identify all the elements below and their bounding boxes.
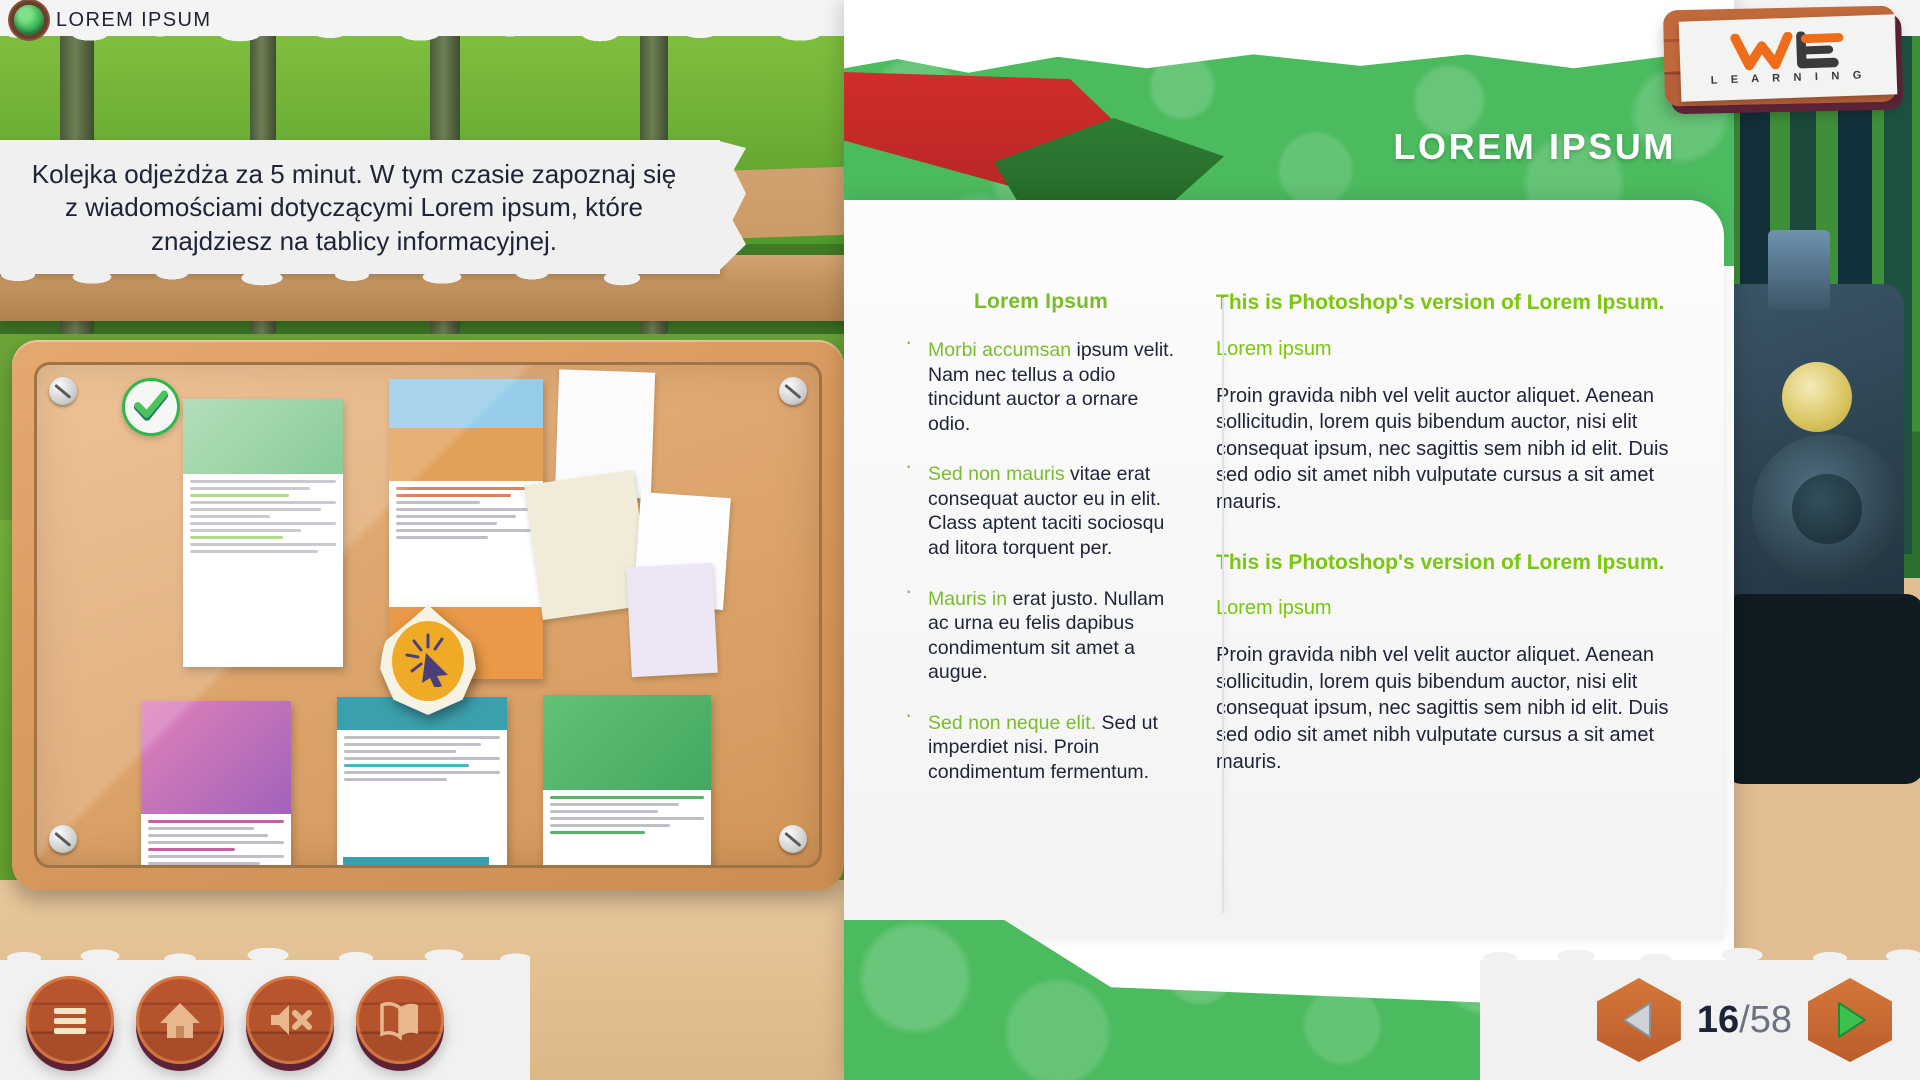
page-indicator: 16/58 xyxy=(1697,999,1792,1042)
next-page-button[interactable] xyxy=(1808,978,1892,1062)
content-panel: LOREM IPSUM Lorem Ipsum Morbi accumsan i… xyxy=(844,0,1734,1080)
narration-text: Kolejka odjeżdża za 5 minut. W tym czasi… xyxy=(22,158,686,258)
section-subheading: Lorem ipsum xyxy=(1216,338,1686,361)
green-gem-icon xyxy=(14,5,44,35)
left-column-heading: Lorem Ipsum xyxy=(900,290,1182,314)
logo-card: L E A R N I N G xyxy=(1679,14,1898,101)
left-column: Lorem Ipsum Morbi accumsan ipsum velit. … xyxy=(900,290,1182,810)
section-body: Proin gravida nibh vel velit auctor aliq… xyxy=(1216,642,1686,775)
station-scenery xyxy=(1734,34,1920,1080)
list-item: Sed non neque elit. Sed ut imperdiet nis… xyxy=(900,711,1182,785)
page-total: 58 xyxy=(1750,999,1792,1041)
toolbar xyxy=(26,976,444,1064)
screw-icon xyxy=(779,377,807,405)
panel-title: LOREM IPSUM xyxy=(1393,126,1676,168)
hamburger-menu-icon xyxy=(46,996,94,1044)
section-subheading: Lorem ipsum xyxy=(1216,597,1686,620)
prev-page-button[interactable] xyxy=(1597,978,1681,1062)
bullet-highlight: Morbi accumsan xyxy=(928,339,1071,361)
list-item: Mauris in erat justo. Nullam ac urna eu … xyxy=(900,587,1182,685)
list-item: Sed non mauris vitae erat consequat auct… xyxy=(900,462,1182,560)
brand: LOREM IPSUM xyxy=(14,5,211,35)
pagination: 16/58 xyxy=(1597,978,1892,1062)
section-heading: This is Photoshop's version of Lorem Ips… xyxy=(1216,550,1686,576)
brand-title: LOREM IPSUM xyxy=(56,9,211,32)
home-button[interactable] xyxy=(136,976,224,1064)
section-body: Proin gravida nibh vel velit auctor aliq… xyxy=(1216,383,1686,516)
click-cursor-icon[interactable] xyxy=(380,605,476,715)
prev-arrow-icon xyxy=(1616,997,1662,1043)
we-logo-mark-icon xyxy=(1729,30,1847,72)
poster-item[interactable] xyxy=(337,697,507,868)
narration-box: Kolejka odjeżdża za 5 minut. W tym czasi… xyxy=(0,140,720,274)
home-icon xyxy=(156,996,204,1044)
content-columns: Lorem Ipsum Morbi accumsan ipsum velit. … xyxy=(844,290,1724,810)
sound-muted-icon xyxy=(266,996,314,1044)
bullet-highlight: Mauris in xyxy=(928,588,1007,610)
page-current: 16 xyxy=(1697,999,1739,1041)
sound-button[interactable] xyxy=(246,976,334,1064)
next-arrow-icon xyxy=(1827,997,1873,1043)
glossary-button[interactable] xyxy=(356,976,444,1064)
screw-icon xyxy=(49,825,77,853)
poster-item[interactable] xyxy=(543,695,711,868)
poster-item[interactable] xyxy=(183,399,343,667)
we-learning-logo: L E A R N I N G xyxy=(1650,4,1906,114)
bullet-highlight: Sed non mauris xyxy=(928,463,1065,485)
green-check-icon xyxy=(122,378,180,436)
section-heading: This is Photoshop's version of Lorem Ips… xyxy=(1216,290,1686,316)
menu-button[interactable] xyxy=(26,976,114,1064)
open-book-icon xyxy=(376,996,424,1044)
right-column: This is Photoshop's version of Lorem Ips… xyxy=(1216,290,1686,810)
bullet-list: Morbi accumsan ipsum velit. Nam nec tell… xyxy=(900,338,1182,784)
column-divider xyxy=(1222,298,1224,913)
list-item: Morbi accumsan ipsum velit. Nam nec tell… xyxy=(900,338,1182,436)
screw-icon xyxy=(779,825,807,853)
page-separator: / xyxy=(1739,999,1750,1041)
bullet-highlight: Sed non neque elit. xyxy=(928,712,1096,734)
poster-item[interactable] xyxy=(141,701,291,868)
pinned-note xyxy=(626,563,718,677)
screw-icon xyxy=(49,377,77,405)
